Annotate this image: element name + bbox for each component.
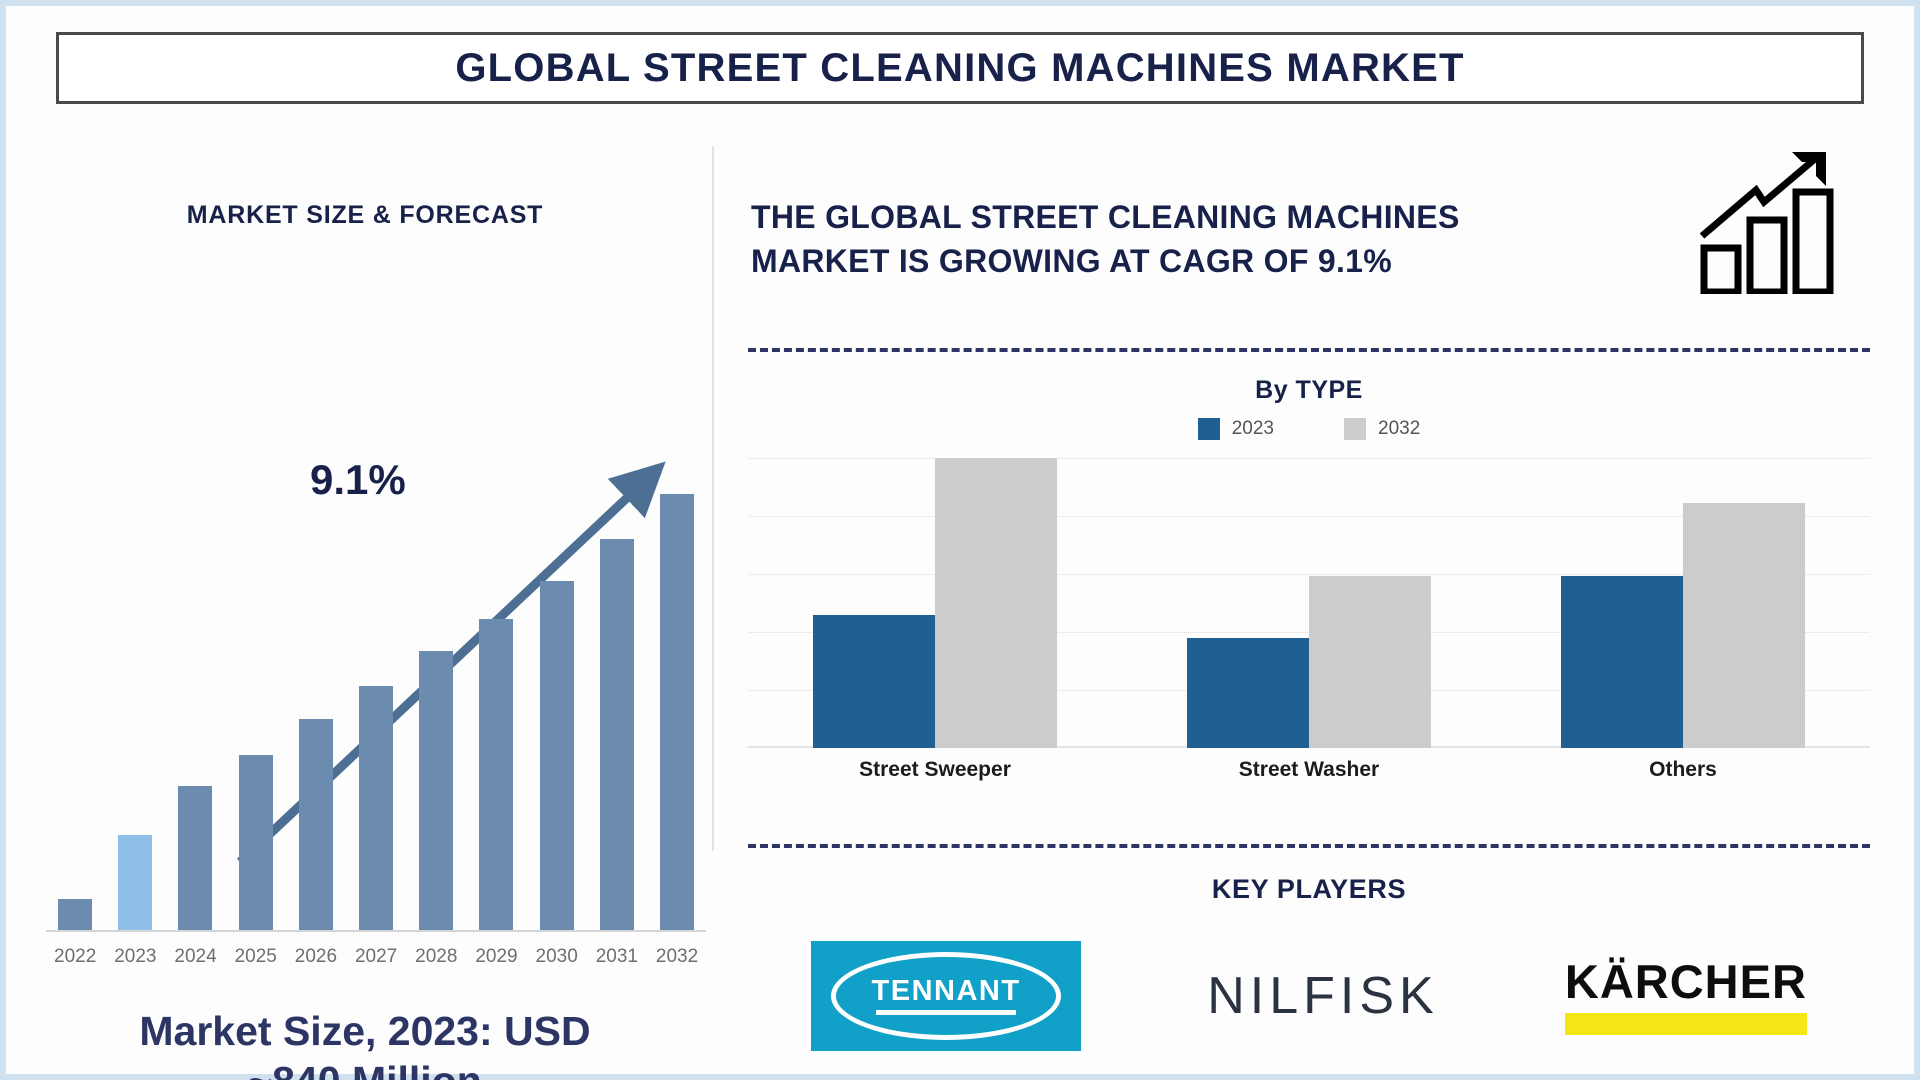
- year-tick-2025: 2025: [235, 946, 277, 968]
- category-label-street-washer: Street Washer: [1159, 758, 1459, 782]
- year-tick-2024: 2024: [174, 946, 216, 968]
- market-size-line-1: Market Size, 2023: USD: [20, 1006, 710, 1056]
- tennant-underline: [876, 1010, 1016, 1015]
- karcher-yellow-bar: [1565, 1013, 1807, 1035]
- x-axis-tick-labels: 2022 2023 2024 2025 2026 2027 2028 2029 …: [46, 946, 706, 968]
- year-tick-2027: 2027: [355, 946, 397, 968]
- bar-slot: [174, 336, 216, 931]
- legend-swatch-2032: [1344, 418, 1366, 440]
- category-label-street-sweeper: Street Sweeper: [785, 758, 1085, 782]
- year-tick-2023: 2023: [114, 946, 156, 968]
- legend-label-2032: 2032: [1378, 418, 1420, 440]
- type-chart-legend: 2023 2032: [748, 418, 1870, 440]
- bar-2025: [239, 755, 273, 931]
- category-label-others: Others: [1533, 758, 1833, 782]
- type-bar-groups: [748, 458, 1870, 748]
- bar-slot: [415, 336, 457, 931]
- divider-bottom: [748, 844, 1870, 848]
- bar-2029: [479, 619, 513, 931]
- market-size-value: Market Size, 2023: USD ~840 Million: [20, 1006, 710, 1080]
- left-panel: MARKET SIZE & FORECAST 9.1%: [20, 126, 710, 1066]
- panel-divider: [712, 146, 714, 851]
- page-title: GLOBAL STREET CLEANING MACHINES MARKET: [455, 46, 1464, 91]
- logo-nilfisk: NILFISK: [1207, 966, 1439, 1026]
- by-type-heading: By TYPE: [748, 376, 1870, 405]
- bar-2023: [118, 835, 152, 931]
- cagr-headline: THE GLOBAL STREET CLEANING MACHINES MARK…: [751, 196, 1581, 283]
- bar-2024: [178, 786, 212, 931]
- year-tick-2032: 2032: [656, 946, 698, 968]
- title-box: GLOBAL STREET CLEANING MACHINES MARKET: [56, 32, 1864, 104]
- bar-street-sweeper-2032: [935, 458, 1057, 748]
- bar-slot: [656, 336, 698, 931]
- year-tick-2030: 2030: [536, 946, 578, 968]
- key-players-heading: KEY PLAYERS: [748, 874, 1870, 905]
- year-tick-2022: 2022: [54, 946, 96, 968]
- forecast-bars: [46, 336, 706, 931]
- divider-top: [748, 348, 1870, 352]
- legend-label-2023: 2023: [1232, 418, 1274, 440]
- bar-slot: [235, 336, 277, 931]
- bar-2032: [660, 494, 694, 931]
- bar-others-2032: [1683, 503, 1805, 748]
- year-tick-2031: 2031: [596, 946, 638, 968]
- logo-tennant: TENNANT: [811, 941, 1081, 1051]
- logo-karcher: KÄRCHER: [1565, 957, 1807, 1034]
- bar-slot: [295, 336, 337, 931]
- karcher-wordmark: KÄRCHER: [1565, 957, 1807, 1006]
- growth-bar-chart-icon: [1694, 144, 1854, 294]
- type-category-labels: Street Sweeper Street Washer Others: [748, 758, 1870, 782]
- bar-street-sweeper-2023: [813, 615, 935, 748]
- year-tick-2029: 2029: [475, 946, 517, 968]
- bar-2027: [359, 686, 393, 931]
- by-type-chart: Street Sweeper Street Washer Others: [748, 458, 1870, 788]
- bar-street-washer-2032: [1309, 576, 1431, 748]
- bar-2031: [600, 539, 634, 931]
- legend-item-2023: 2023: [1198, 418, 1274, 440]
- bar-slot: [596, 336, 638, 931]
- bar-slot: [355, 336, 397, 931]
- legend-item-2032: 2032: [1344, 418, 1420, 440]
- year-tick-2026: 2026: [295, 946, 337, 968]
- bar-slot: [475, 336, 517, 931]
- year-tick-2028: 2028: [415, 946, 457, 968]
- market-size-line-2: ~840 Million: [20, 1056, 710, 1080]
- key-players-logos: TENNANT NILFISK KÄRCHER: [748, 926, 1870, 1066]
- bar-2022: [58, 899, 92, 931]
- market-size-forecast-heading: MARKET SIZE & FORECAST: [20, 201, 710, 230]
- bar-slot: [54, 336, 96, 931]
- bar-2030: [540, 581, 574, 931]
- bar-street-washer-2023: [1187, 638, 1309, 748]
- bar-2026: [299, 719, 333, 931]
- bar-others-2023: [1561, 576, 1683, 748]
- infographic-root: GLOBAL STREET CLEANING MACHINES MARKET M…: [0, 0, 1920, 1080]
- tennant-wordmark: TENNANT: [872, 977, 1021, 1006]
- group-others: [1533, 458, 1833, 748]
- group-street-washer: [1159, 458, 1459, 748]
- x-axis-line: [46, 930, 706, 932]
- right-panel: THE GLOBAL STREET CLEANING MACHINES MARK…: [736, 126, 1896, 1076]
- group-street-sweeper: [785, 458, 1085, 748]
- bar-slot: [114, 336, 156, 931]
- bar-slot: [536, 336, 578, 931]
- tennant-oval-shape: TENNANT: [831, 952, 1061, 1040]
- bar-2028: [419, 651, 453, 931]
- legend-swatch-2023: [1198, 418, 1220, 440]
- market-size-forecast-chart: 2022 2023 2024 2025 2026 2027 2028 2029 …: [46, 326, 706, 976]
